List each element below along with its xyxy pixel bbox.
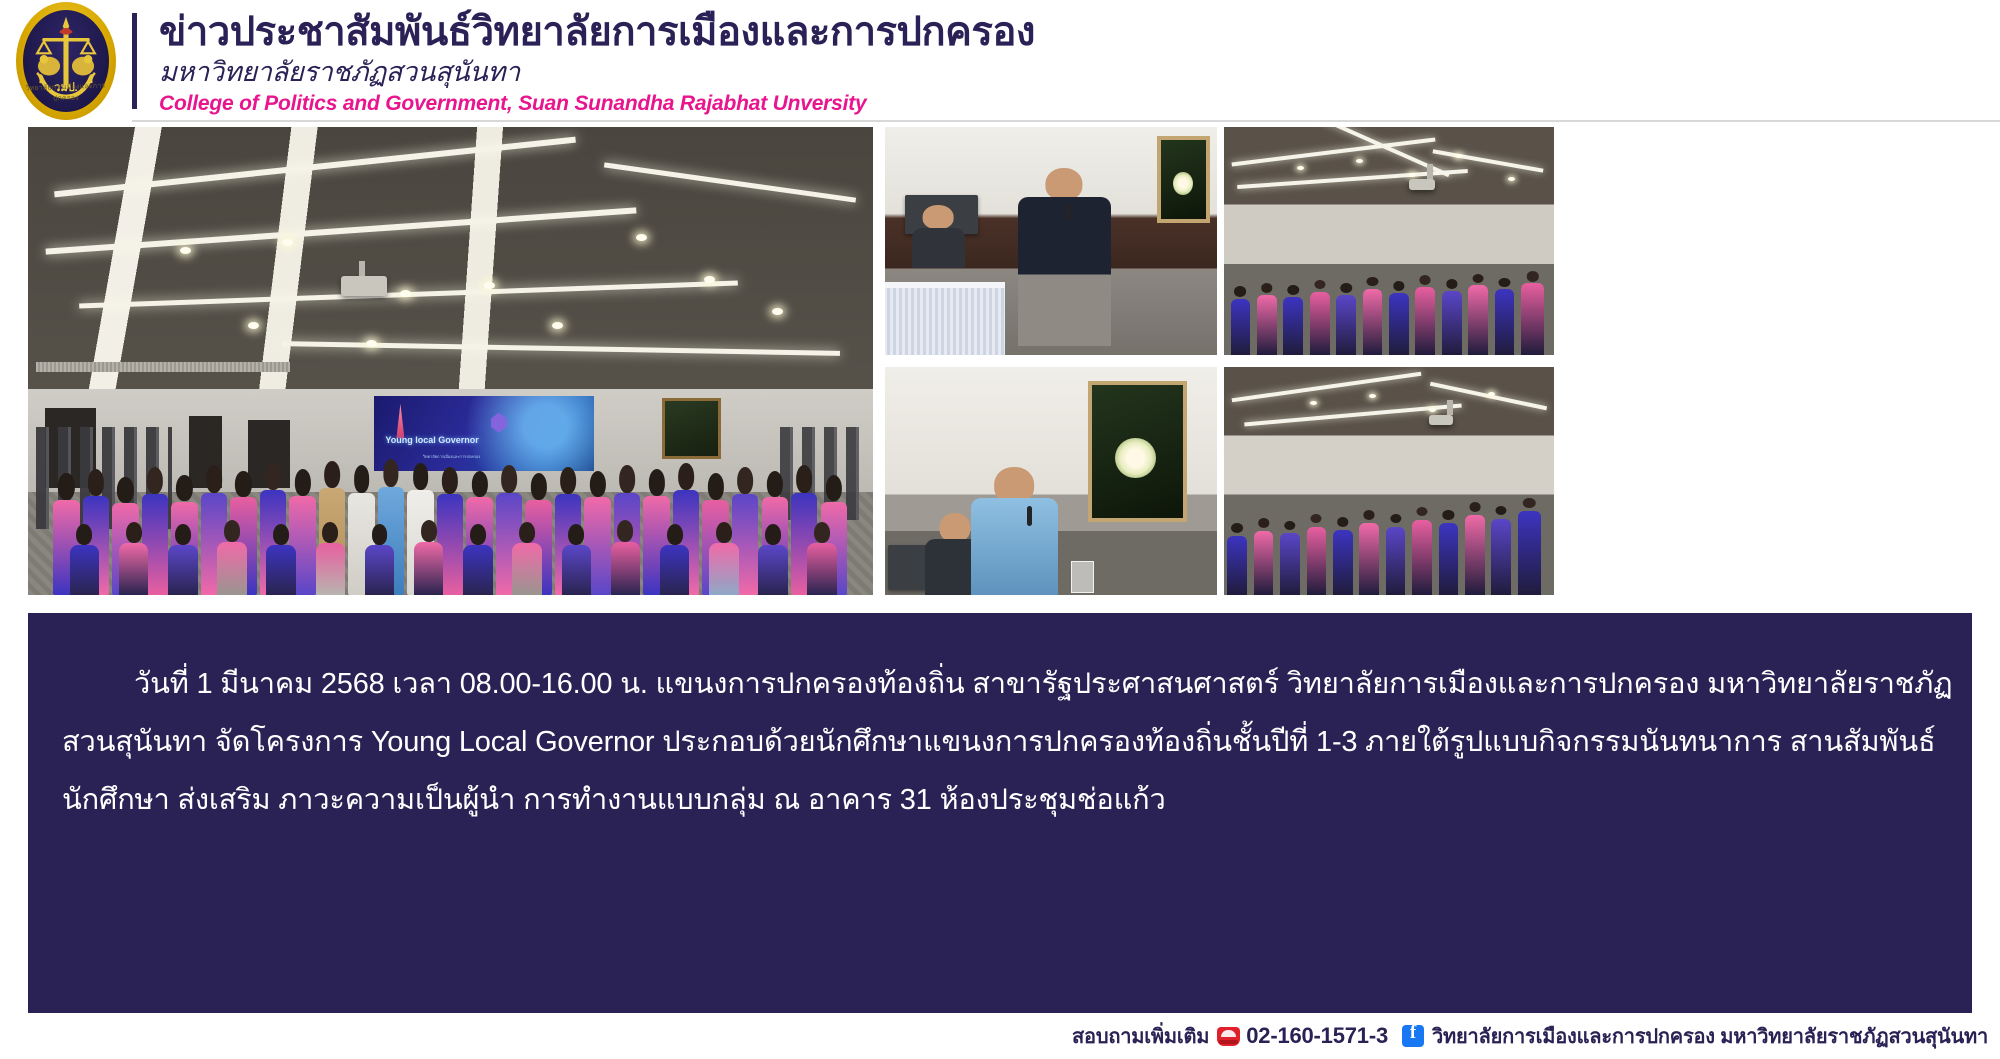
contact-label: สอบถามเพิ่มเติม: [1072, 1020, 1209, 1052]
seated-audience: [1224, 255, 1554, 355]
poster-header: วมป. วิทยาลัยการเมืองและการปกครอง ข่าวปร…: [0, 0, 2000, 122]
ceiling-projector-icon: [1429, 415, 1453, 425]
university-seal-icon: วมป. วิทยาลัยการเมืองและการปกครอง: [16, 2, 116, 120]
seated-audience: [1224, 481, 1554, 595]
drink-cup: [1071, 561, 1094, 593]
standing-speaker: [1018, 168, 1111, 346]
facebook-icon[interactable]: [1402, 1025, 1424, 1047]
lotus-painting: [1088, 381, 1188, 522]
seal-arc-label: วิทยาลัยการเมืองและการปกครอง: [15, 80, 116, 123]
phone-number[interactable]: 02-160-1571-3: [1246, 1023, 1388, 1049]
ceiling-projector-icon: [341, 276, 387, 296]
caption-band: วันที่ 1 มีนาคม 2568 เวลา 08.00-16.00 น.…: [28, 613, 1972, 1013]
news-poster: วมป. วิทยาลัยการเมืองและการปกครอง ข่าวปร…: [0, 0, 2000, 1059]
ceiling: [28, 127, 873, 394]
header-text-block: ข่าวประชาสัมพันธ์วิทยาลัยการเมืองและการป…: [159, 6, 2000, 116]
telephone-icon: [1217, 1027, 1240, 1046]
student-group: [53, 398, 873, 595]
seated-staff: [912, 205, 965, 269]
header-divider-line: [132, 120, 2000, 122]
caption-line-1: วันที่ 1 มีนาคม 2568 เวลา 08.00-16.00 น.…: [62, 655, 1938, 713]
page-title-english: College of Politics and Government, Suan…: [159, 91, 2000, 116]
wall-painting: [1157, 136, 1210, 223]
speaker-podium-photo: [885, 127, 1217, 355]
speaking-presenter: [971, 467, 1057, 595]
caption-text: วันที่ 1 มีนาคม 2568 เวลา 08.00-16.00 น.…: [28, 613, 1972, 829]
page-subtitle: มหาวิทยาลัยราชภัฏสวนสุนันทา: [159, 56, 2000, 88]
speaker-seated-photo: [885, 367, 1217, 595]
facebook-page-name[interactable]: วิทยาลัยการเมืองและการปกครอง มหาวิทยาลัย…: [1432, 1020, 1988, 1052]
logo-container: วมป. วิทยาลัยการเมืองและการปกครอง: [0, 0, 132, 122]
main-group-photo: Young local Governor วิทยาลัยการเมืองและ…: [28, 127, 873, 595]
caption-line-2: สวนสุนันทา จัดโครงการ Young Local Govern…: [62, 713, 1938, 771]
footer-contact-bar: สอบถามเพิ่มเติม 02-160-1571-3 วิทยาลัยกา…: [0, 1017, 2000, 1055]
page-title: ข่าวประชาสัมพันธ์วิทยาลัยการเมืองและการป…: [159, 10, 2000, 55]
ceiling-projector-icon: [1409, 179, 1435, 190]
audience-hall-photo-2: [1224, 367, 1554, 595]
header-vertical-divider: [132, 13, 137, 109]
table-cloth: [885, 282, 1005, 355]
photo-collage: Young local Governor วิทยาลัยการเมืองและ…: [28, 127, 1972, 597]
caption-line-3: นักศึกษา ส่งเสริม ภาวะความเป็นผู้นำ การท…: [62, 771, 1938, 829]
audience-hall-photo-1: [1224, 127, 1554, 355]
